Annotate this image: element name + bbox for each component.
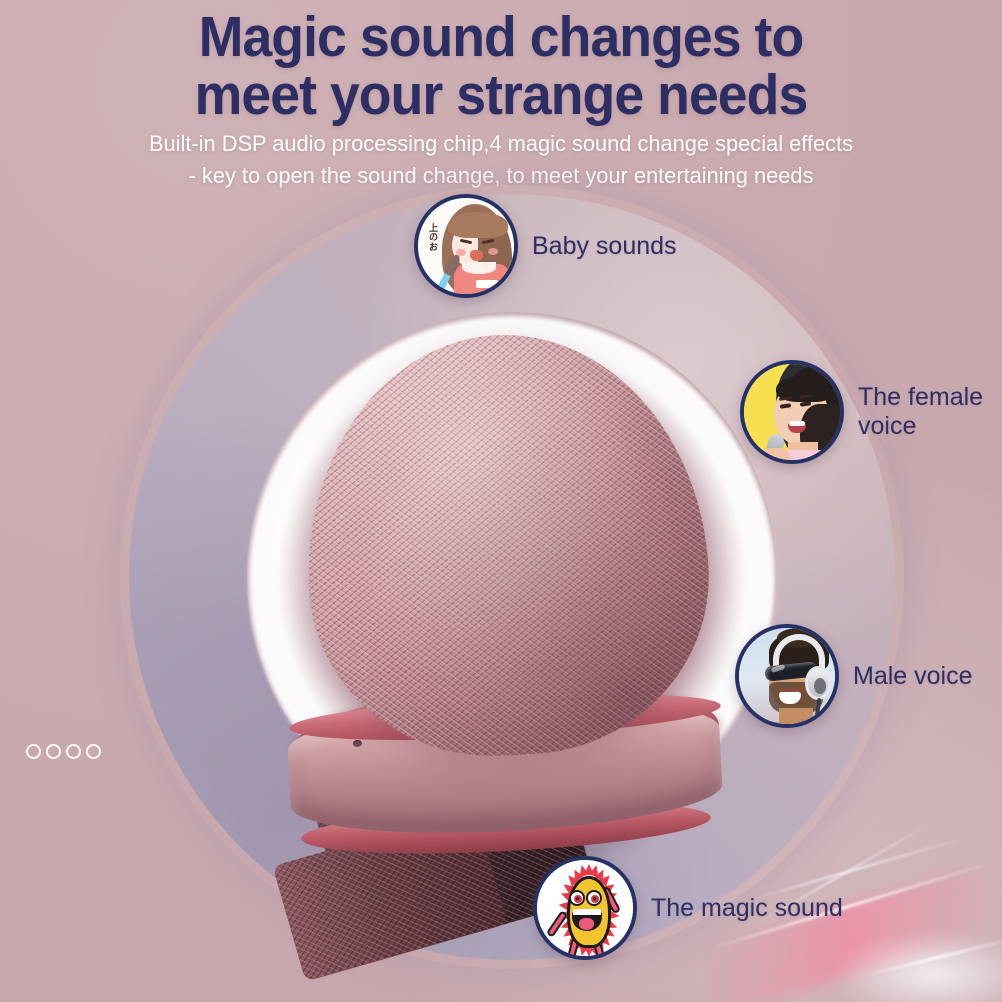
cartoon-monster-icon <box>533 856 637 960</box>
pagination-dot[interactable] <box>46 744 61 759</box>
mic-mesh-shading <box>296 325 717 765</box>
female-singer-portrait-icon <box>740 360 844 464</box>
microphone-product-image <box>275 335 730 895</box>
pagination-dot[interactable] <box>86 744 101 759</box>
feature-badge-baby-sounds[interactable]: 上のお Baby sounds <box>414 194 677 298</box>
feature-badge-male-voice[interactable]: Male voice <box>735 624 973 728</box>
pagination-dots[interactable] <box>26 744 101 759</box>
feature-badge-magic-sound[interactable]: The magic sound <box>533 856 843 960</box>
pagination-dot[interactable] <box>26 744 41 759</box>
male-headphones-portrait-icon <box>735 624 839 728</box>
feature-label: The female voice <box>858 383 983 441</box>
page-subtitle: Built-in DSP audio processing chip,4 mag… <box>15 128 987 192</box>
feature-label: Male voice <box>853 662 973 691</box>
pagination-dot[interactable] <box>66 744 81 759</box>
mic-grille-head <box>296 325 717 765</box>
page-title: Magic sound changes to meet your strange… <box>30 8 972 124</box>
feature-label: The magic sound <box>651 894 843 923</box>
feature-label: Baby sounds <box>532 232 677 261</box>
cartoon-girl-singing-icon: 上のお <box>414 194 518 298</box>
promo-slide: Magic sound changes to meet your strange… <box>0 0 1002 1002</box>
feature-badge-female-voice[interactable]: The female voice <box>740 360 983 464</box>
